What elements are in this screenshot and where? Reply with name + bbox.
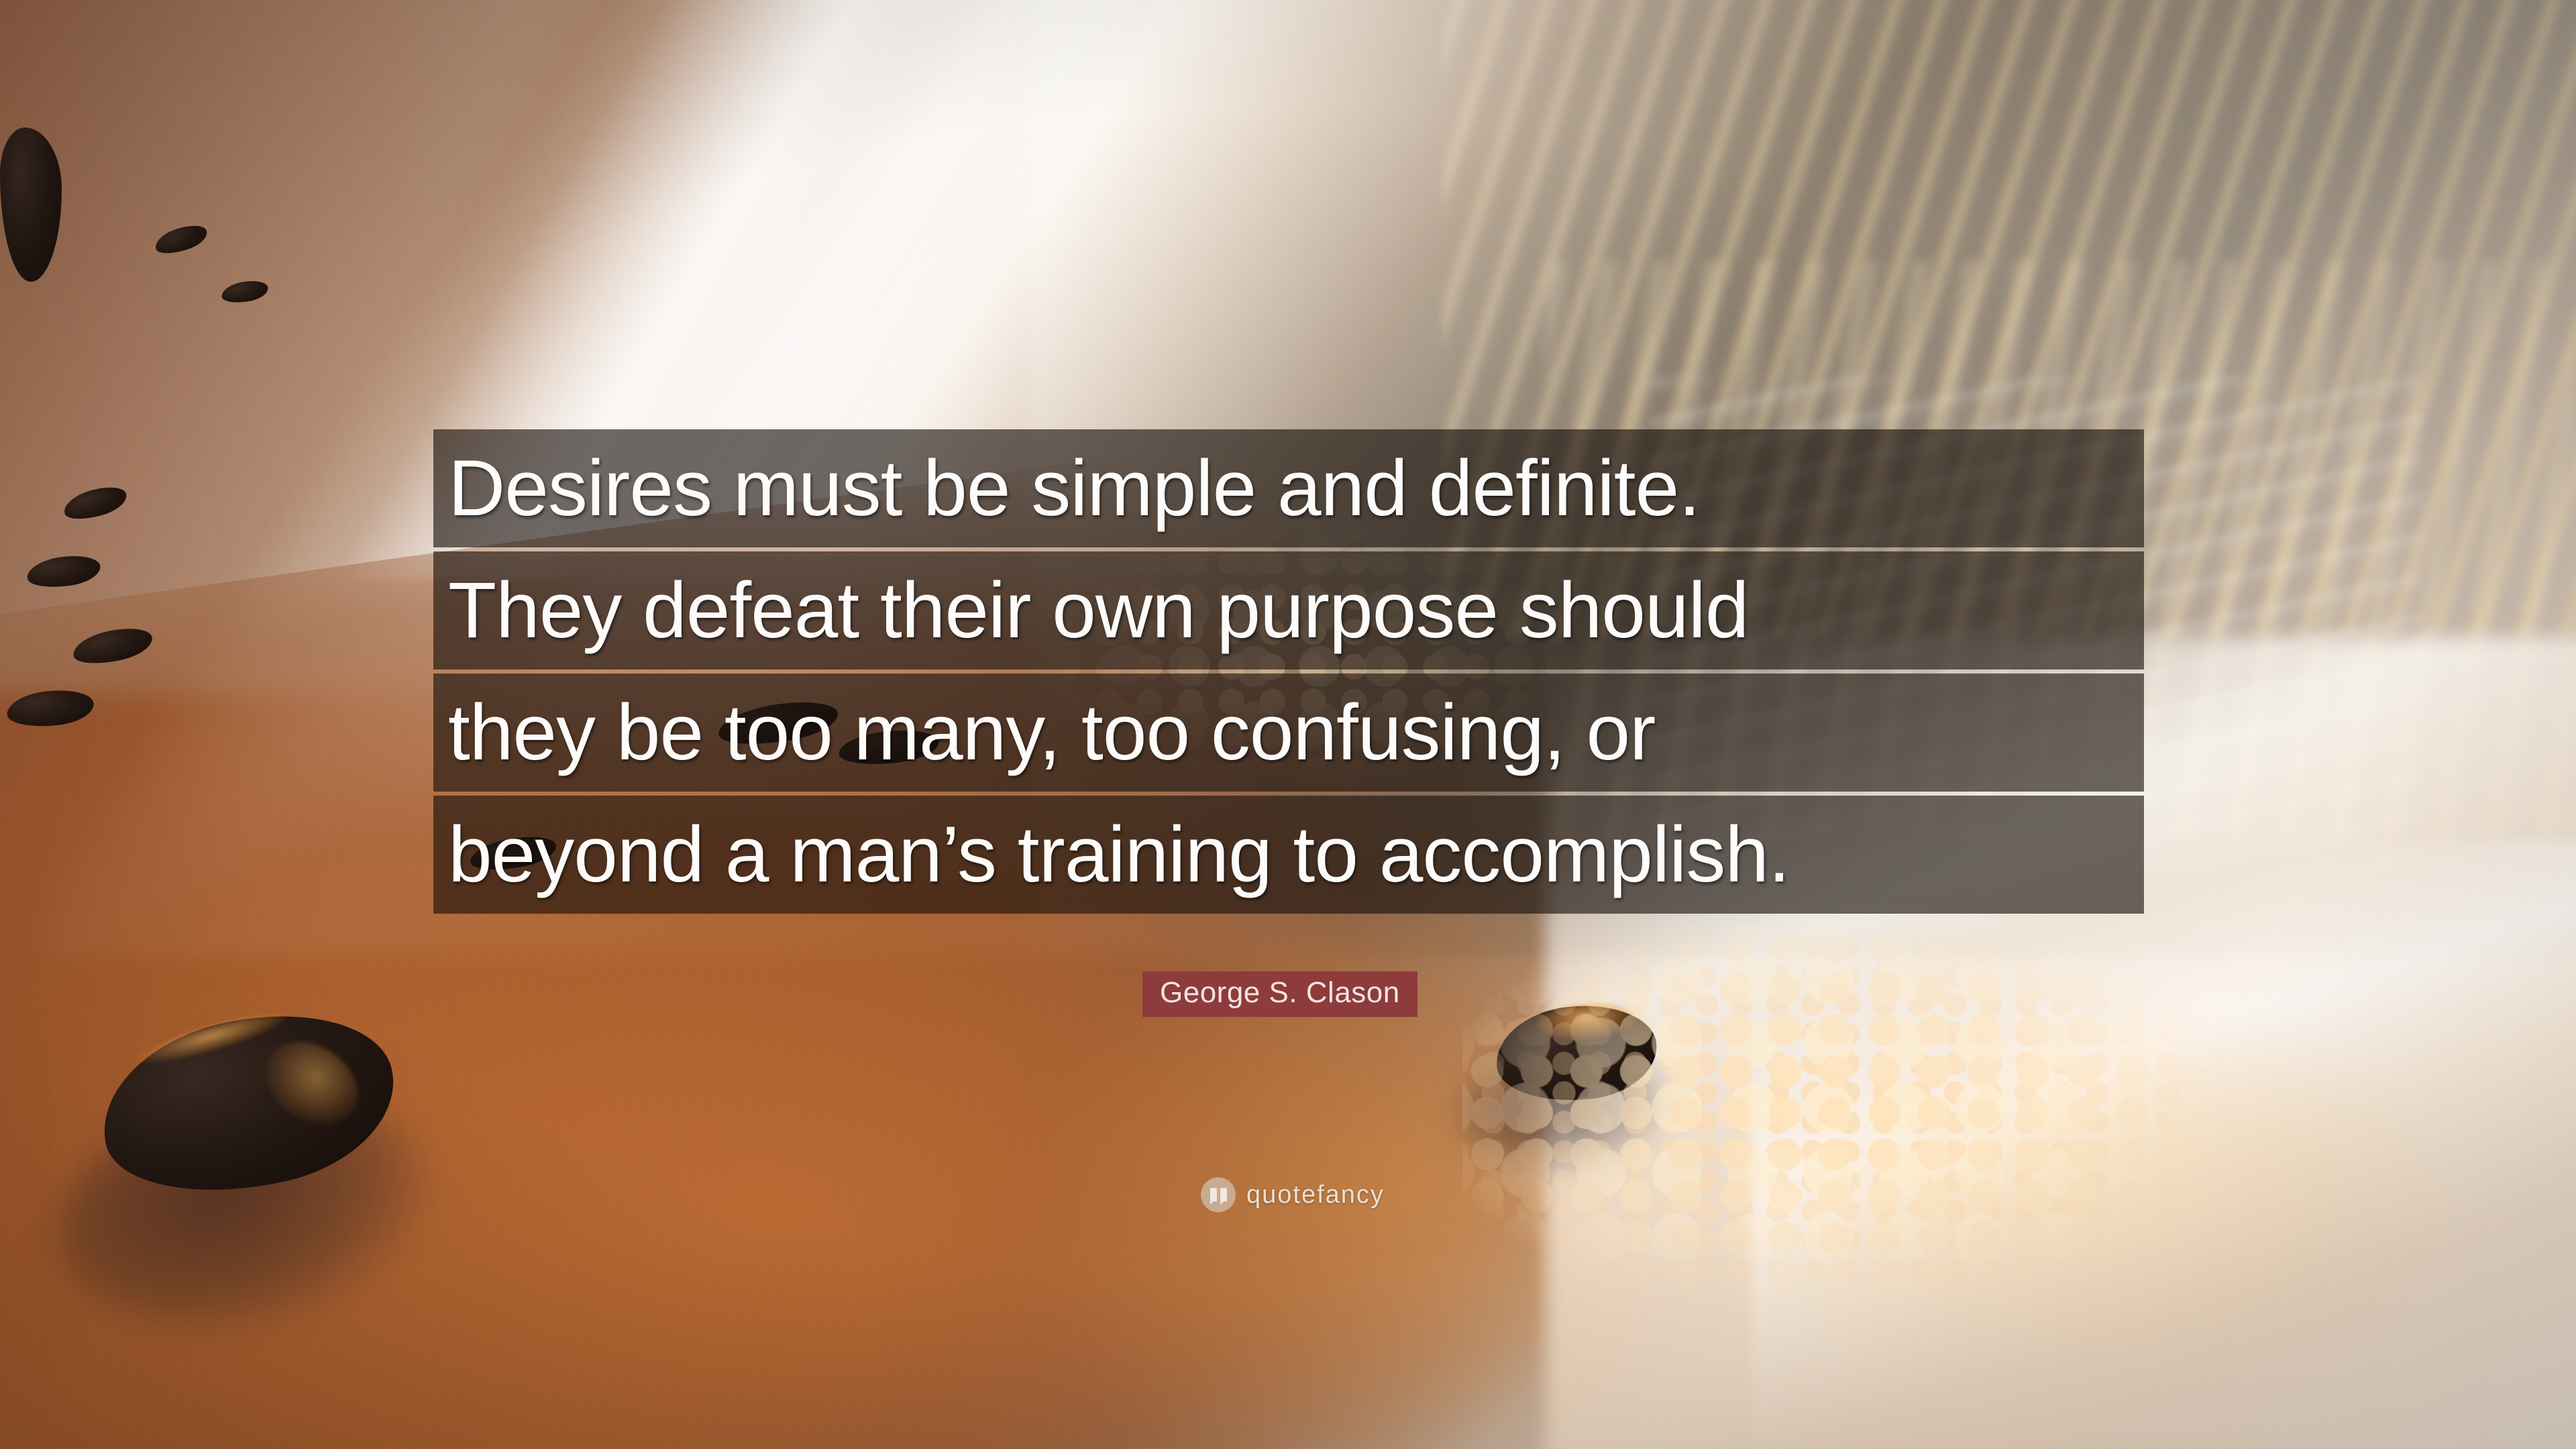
quotefancy-watermark[interactable]: quotefancy	[1201, 1177, 1385, 1212]
quote-mark-left	[1210, 1188, 1217, 1201]
quote-line-text: Desires must be simple and definite.	[448, 449, 2137, 528]
quote-poster: Desires must be simple and definite. The…	[0, 0, 2576, 1449]
quote-mark-right	[1220, 1188, 1227, 1201]
author-name: George S. Clason	[1160, 976, 1400, 1009]
quote-line-text: beyond a man’s training to accomplish.	[448, 815, 2137, 894]
quote-line: Desires must be simple and definite.	[433, 429, 2144, 547]
quote-line: they be too many, too confusing, or	[433, 674, 2144, 792]
quote-line-text: They defeat their own purpose should	[448, 571, 2137, 650]
quote-marks-icon	[1201, 1177, 1236, 1212]
quote-text-block: Desires must be simple and definite. The…	[433, 429, 2144, 914]
brand-name: quotefancy	[1246, 1182, 1385, 1207]
quote-marks-glyphs	[1210, 1188, 1227, 1201]
quote-line: beyond a man’s training to accomplish.	[433, 796, 2144, 914]
author-attribution-badge: George S. Clason	[1142, 971, 1417, 1017]
quote-line-text: they be too many, too confusing, or	[448, 693, 2137, 772]
quote-line: They defeat their own purpose should	[433, 551, 2144, 669]
